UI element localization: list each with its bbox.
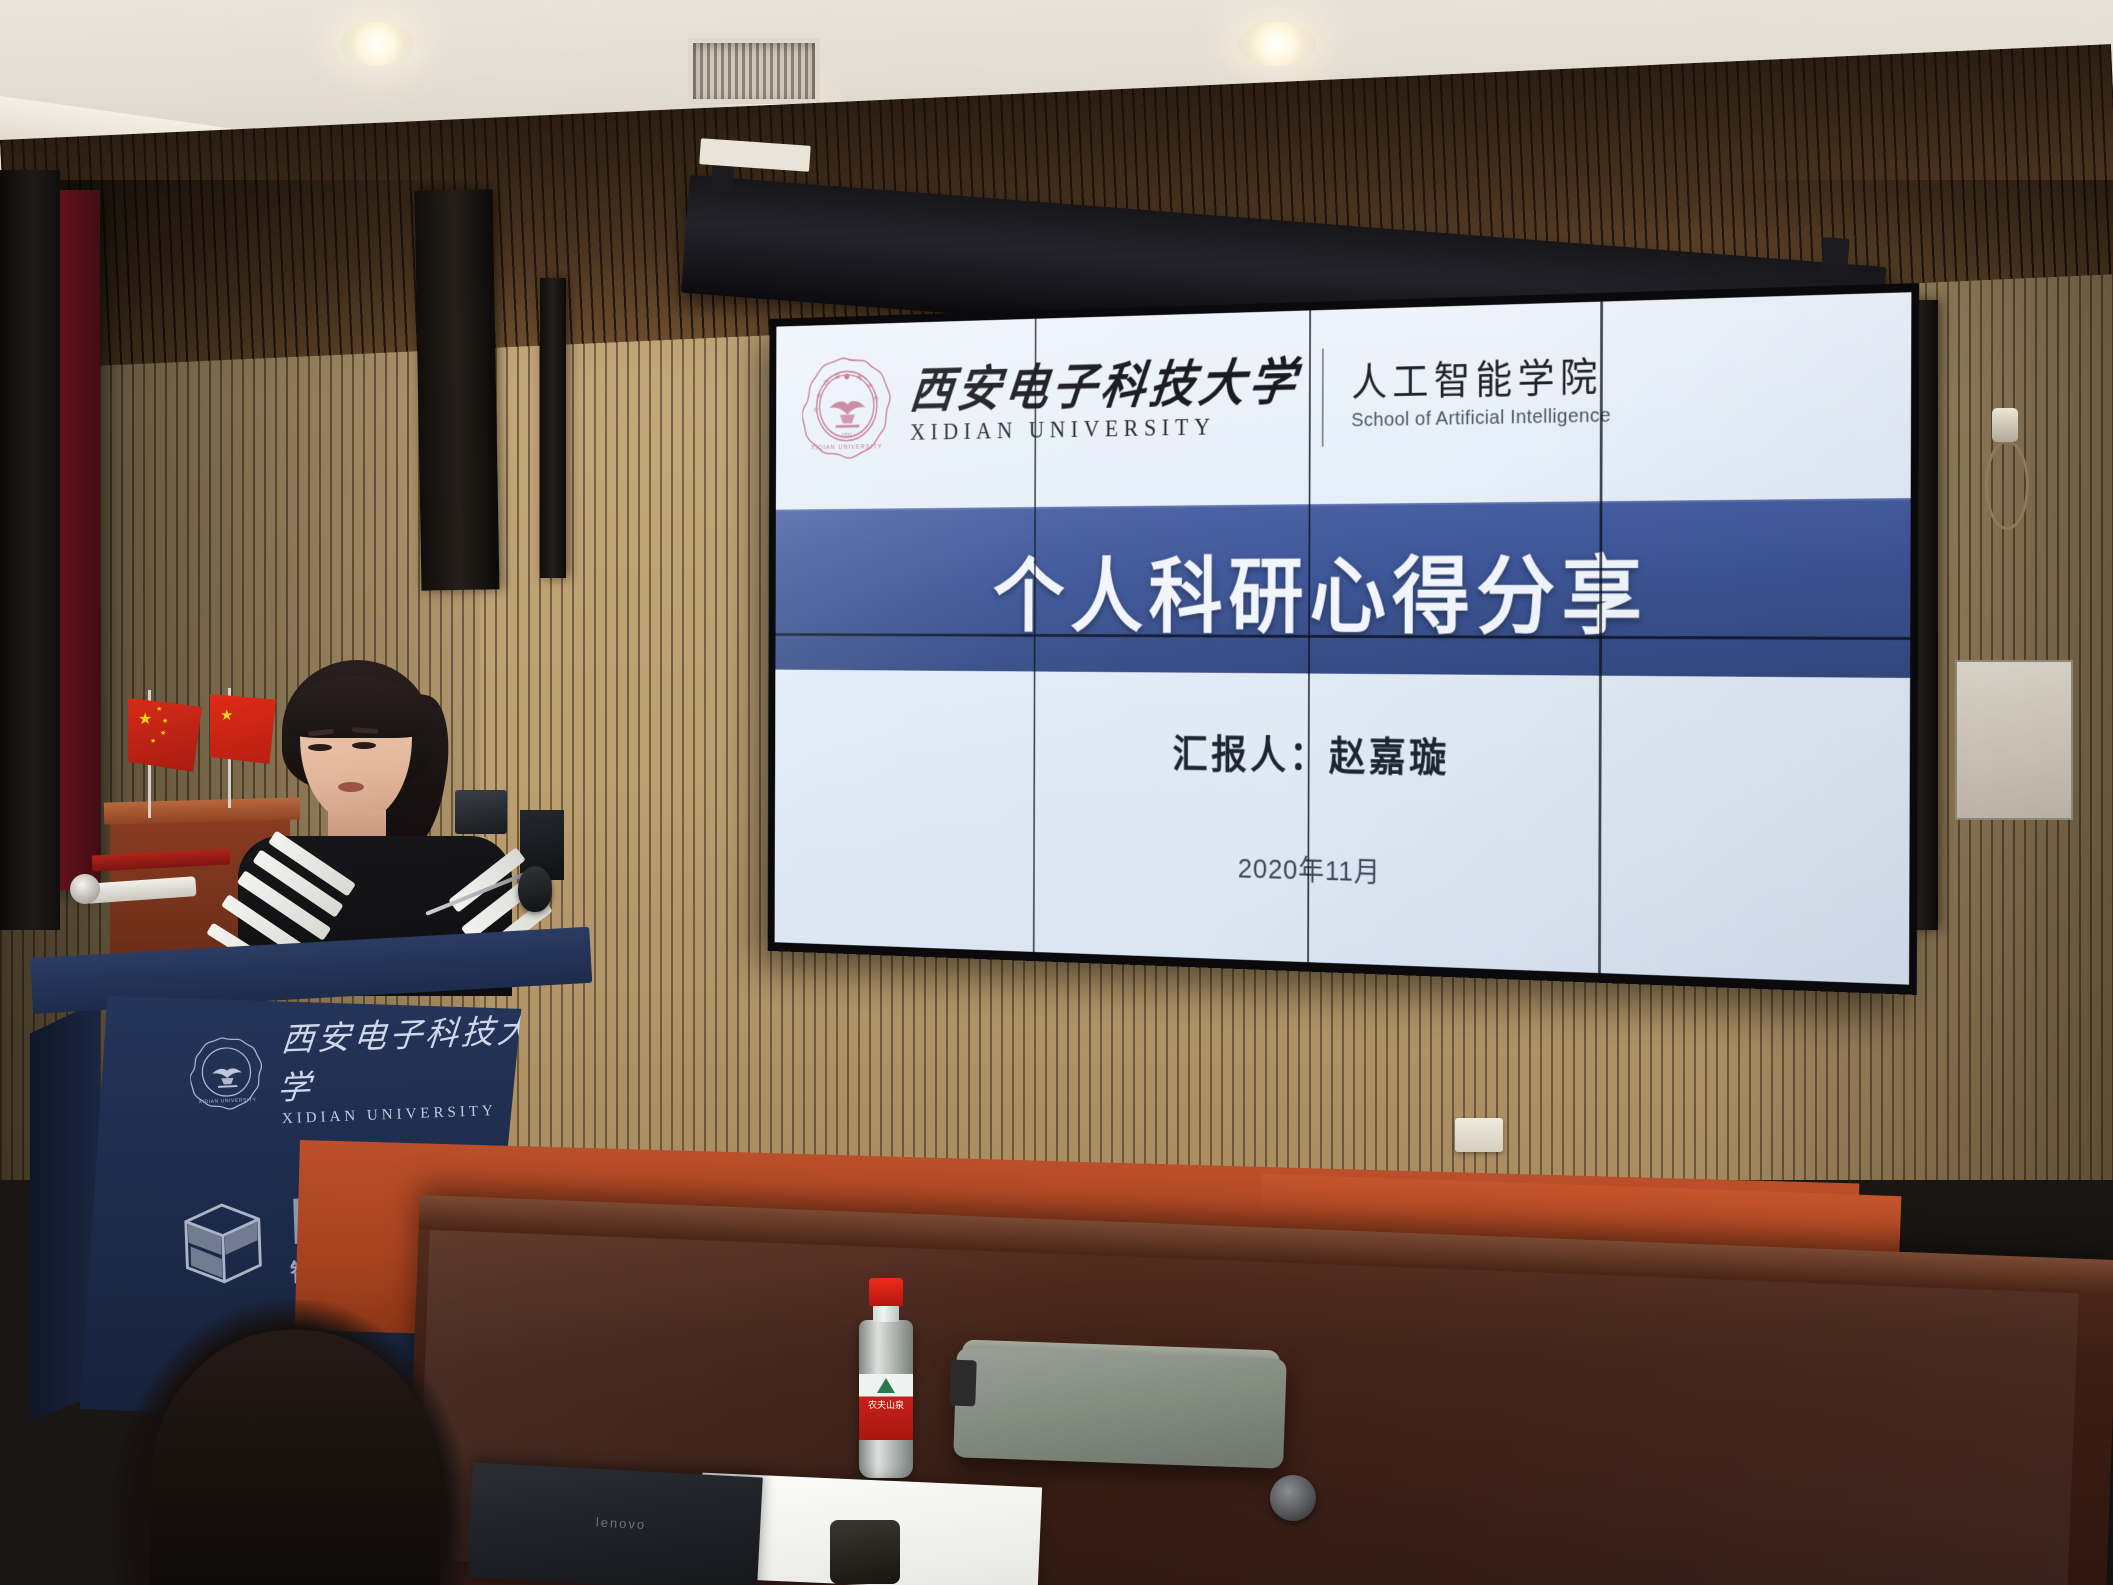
wall-cable-loop xyxy=(1985,440,2029,530)
bottle-neck xyxy=(873,1304,899,1322)
wrist-watch-icon xyxy=(1270,1475,1316,1521)
presenter-mouth xyxy=(338,782,364,792)
table-small-object xyxy=(830,1520,900,1584)
flag-star-icon: ★ xyxy=(138,712,152,728)
podium-university-name-cn: 西安电子科技大学 xyxy=(276,1003,539,1109)
podium-university-logo: XIDIAN UNIVERSITY 西安电子科技大学 XIDIAN UNIVER… xyxy=(188,1003,537,1131)
slide-date: 2020年11月 xyxy=(775,833,1910,906)
microphone-icon xyxy=(518,866,552,912)
water-bottle-icon[interactable]: 农夫山泉 xyxy=(855,1278,917,1478)
slide-title: 个人科研心得分享 xyxy=(993,527,1649,651)
wall-service-panel-icon xyxy=(1955,660,2073,820)
wall-column-speaker-left xyxy=(415,189,500,590)
presenter-eye-left xyxy=(308,744,332,751)
xidian-university-crest-icon: XIDIAN UNIVERSITY xyxy=(189,1034,266,1111)
nongfu-spring-mountain-icon xyxy=(877,1378,895,1393)
ceiling-downlight-icon xyxy=(1238,22,1316,66)
presenter-eye-right xyxy=(352,742,376,749)
flag-star-small-icon: ★ xyxy=(156,706,162,713)
screen-bracket xyxy=(1820,237,1849,283)
ipiu-cube-logo-icon xyxy=(173,1194,272,1293)
flag-star-small-icon: ★ xyxy=(160,730,166,737)
svg-text:XIDIAN UNIVERSITY: XIDIAN UNIVERSITY xyxy=(811,444,883,452)
svg-text:XIDIAN UNIVERSITY: XIDIAN UNIVERSITY xyxy=(199,1097,257,1105)
svg-text:1931: 1931 xyxy=(841,433,852,439)
slide-university-name: 西安电子科技大学 XIDIAN UNIVERSITY xyxy=(910,357,1299,446)
university-name-cn: 西安电子科技大学 xyxy=(908,357,1303,417)
microphone-head-icon xyxy=(70,874,100,904)
slide-header: 西 安 电 子 科 学 大 1931 xyxy=(776,292,1911,492)
ceiling-downlight-icon xyxy=(340,22,414,66)
slide-title-band: 个人科研心得分享 xyxy=(775,498,1910,678)
led-video-wall: 西 安 电 子 科 学 大 1931 xyxy=(768,283,1920,995)
header-divider xyxy=(1322,349,1324,447)
presentation-slide: 西 安 电 子 科 学 大 1931 xyxy=(775,292,1912,984)
ceiling-air-vent-icon xyxy=(688,38,820,104)
school-name-cn: 人工智能学院 xyxy=(1351,356,1611,405)
laptop-brand-label: lenovo xyxy=(596,1514,647,1532)
wall-black-panel-left xyxy=(0,170,60,930)
xidian-university-crest-icon: 西 安 电 子 科 学 大 1931 xyxy=(802,355,893,461)
bottle-label: 农夫山泉 xyxy=(859,1374,913,1440)
laptop-icon[interactable]: lenovo xyxy=(467,1462,763,1585)
wall-power-socket-icon[interactable] xyxy=(1455,1118,1503,1152)
svg-text:子: 子 xyxy=(866,381,874,391)
podium-university-names: 西安电子科技大学 XIDIAN UNIVERSITY xyxy=(278,1003,537,1128)
flag-star-small-icon: ★ xyxy=(150,738,156,745)
slide-school-name: 人工智能学院 School of Artificial Intelligence xyxy=(1351,356,1611,432)
wall-column-speaker-left-inner xyxy=(540,278,566,578)
flag-star-small-icon: ★ xyxy=(162,718,168,725)
conference-room-photo: 西 安 电 子 科 学 大 1931 xyxy=(0,0,2113,1585)
laptop-sleeve-icon[interactable] xyxy=(953,1347,1287,1468)
slide-presenter: 汇报人：赵嘉璇 xyxy=(775,718,1910,793)
sleeve-zipper-icon[interactable] xyxy=(949,1360,977,1407)
bottle-brand-cn: 农夫山泉 xyxy=(859,1400,913,1410)
wall-cable-connector xyxy=(1992,408,2018,442)
school-name-en: School of Artificial Intelligence xyxy=(1351,404,1611,432)
bottle-cap[interactable] xyxy=(869,1278,903,1306)
svg-text:大: 大 xyxy=(811,405,820,415)
